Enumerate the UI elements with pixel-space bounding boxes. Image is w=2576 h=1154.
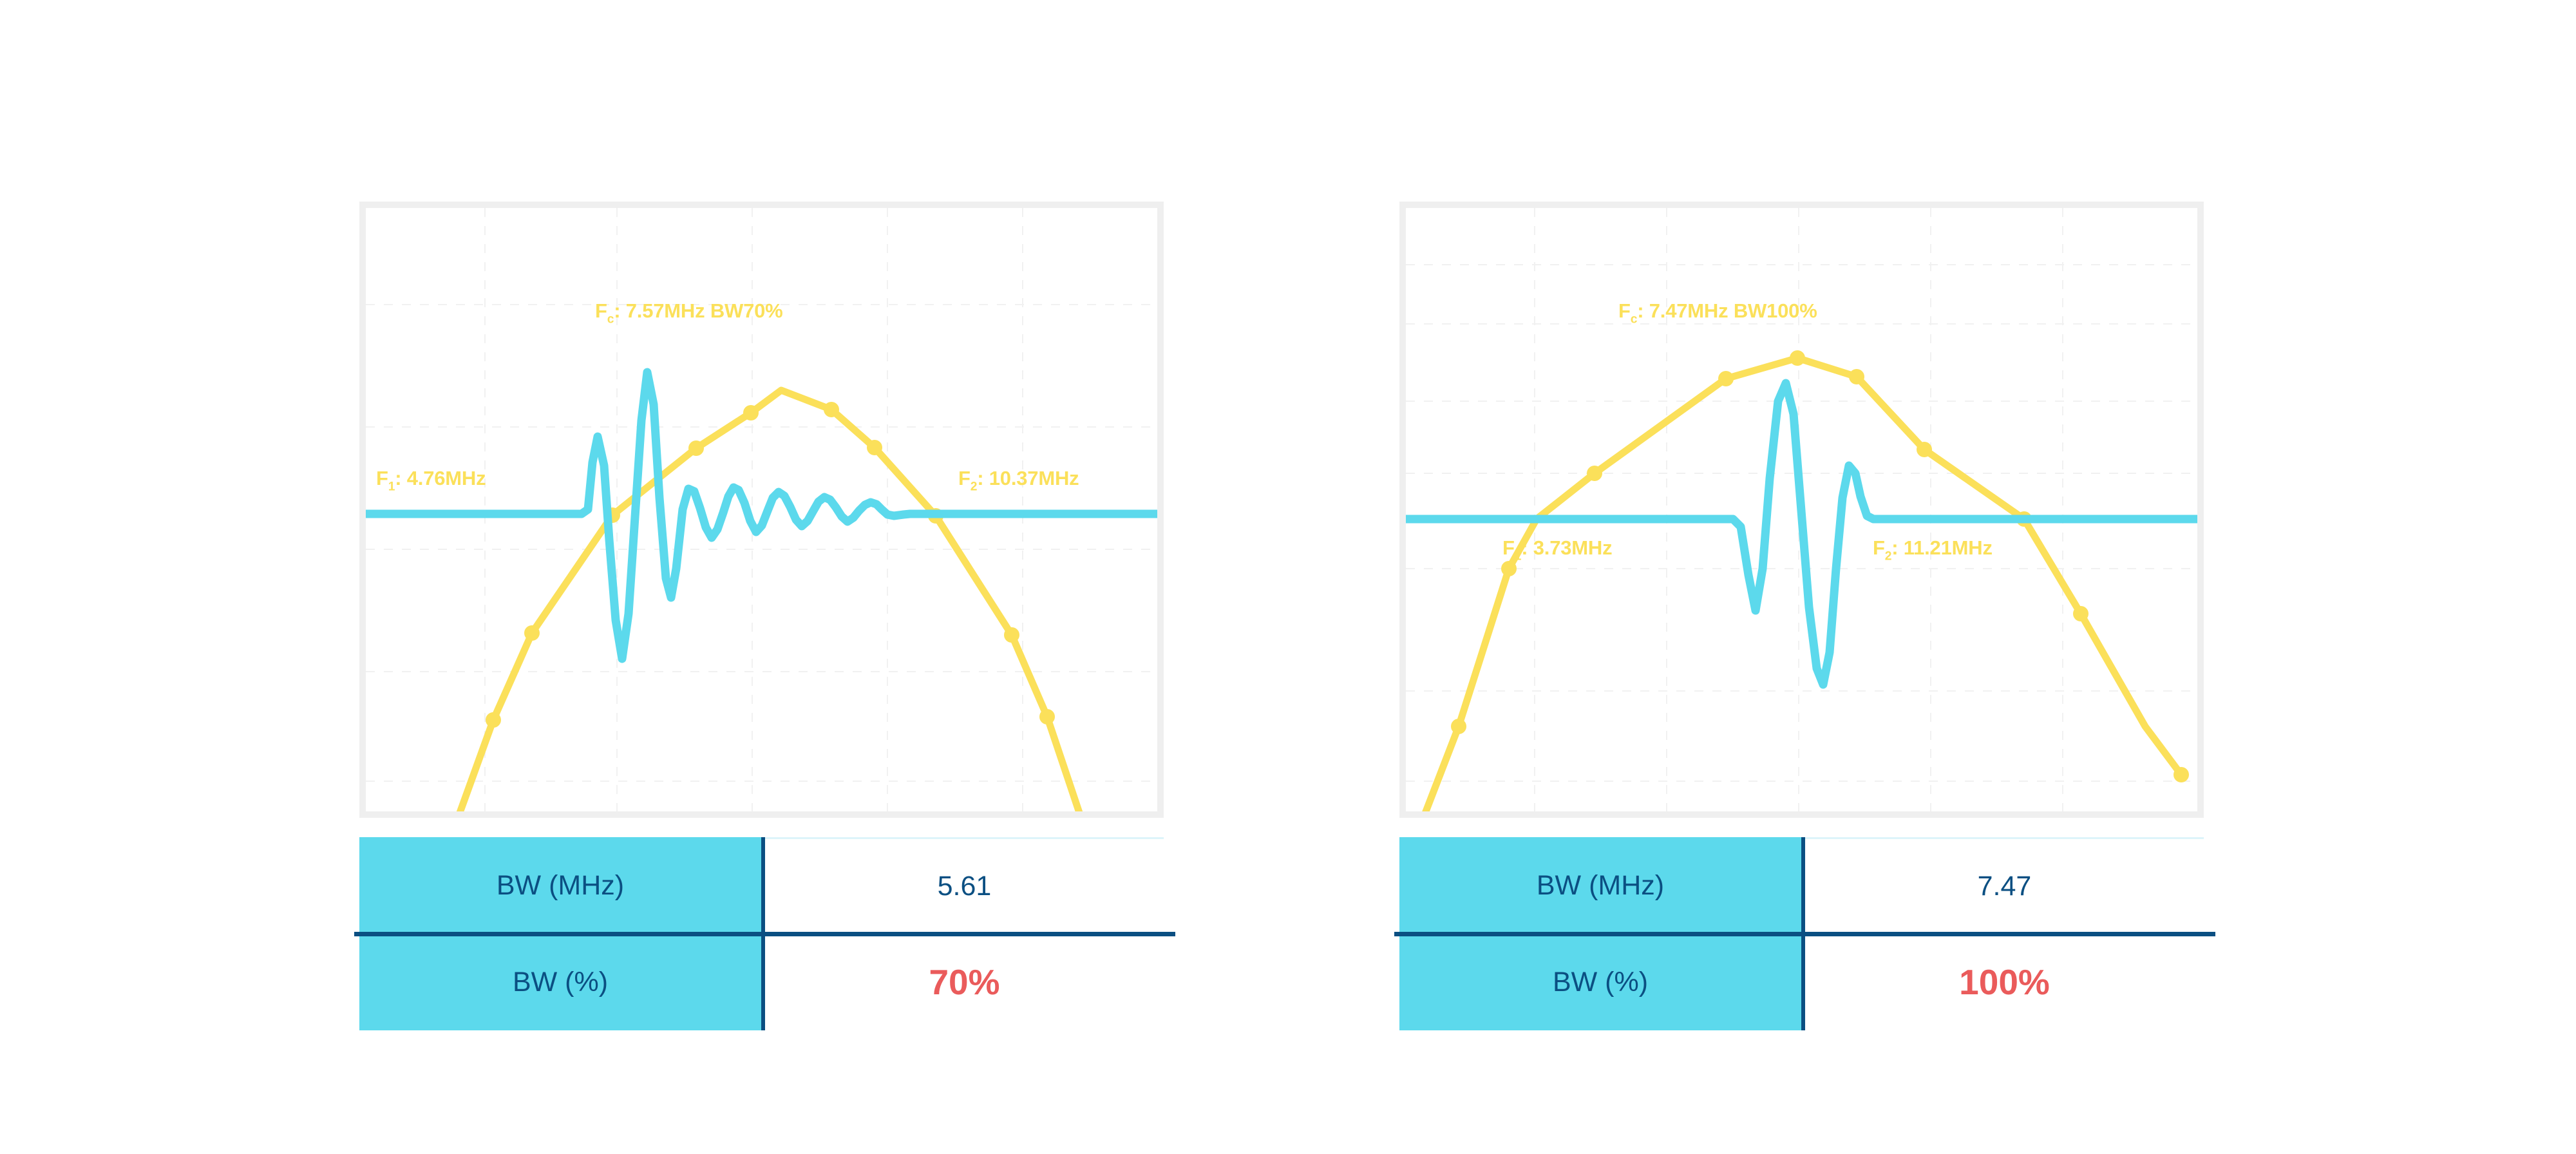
table-row: BW (MHz) 7.47: [1399, 837, 2204, 934]
annotation-f2-left: F2: 10.37MHz: [958, 468, 1079, 493]
bw-pct-label-left: BW (%): [359, 934, 765, 1030]
annotation-f2-text-right: : 11.21MHz: [1891, 536, 1993, 559]
bw-mhz-value-cell-left: 5.61: [765, 837, 1164, 934]
table-row: BW (%) 70%: [359, 934, 1164, 1030]
bw-pct-label-right: BW (%): [1399, 934, 1805, 1030]
annotation-center-prefix-left: F: [595, 299, 607, 322]
plot-area-left: [366, 208, 1157, 811]
chart-svg-left: [366, 208, 1157, 811]
bw-mhz-value-right: 7.47: [1978, 871, 2032, 902]
bw-table-right: BW (MHz) 7.47 BW (%) 100%: [1399, 837, 2204, 1030]
bw-mhz-label-left: BW (MHz): [359, 837, 765, 934]
annotation-f1-sub-left: 1: [388, 480, 395, 494]
bw-mhz-label-right: BW (MHz): [1399, 837, 1805, 934]
annotation-f2-sub-left: 2: [971, 480, 977, 494]
annotation-f2-prefix-left: F: [958, 467, 971, 489]
table-mid-rule-right: [1394, 932, 2215, 936]
annotation-center-text-right: : 7.47MHz BW100%: [1637, 299, 1817, 322]
table-row: BW (%) 100%: [1399, 934, 2204, 1030]
bw-pct-value-left: 70%: [929, 961, 999, 1003]
annotation-f2-prefix-right: F: [1873, 536, 1885, 559]
table-mid-rule-left: [354, 932, 1175, 936]
annotation-f2-sub-right: 2: [1885, 550, 1891, 563]
annotation-f1-sub-right: 1: [1515, 550, 1521, 563]
annotation-center-text-left: : 7.57MHz BW70%: [614, 299, 782, 322]
annotation-center-sub-right: c: [1631, 313, 1637, 326]
plot-area-right: [1406, 208, 2197, 811]
annotation-f2-right: F2: 11.21MHz: [1873, 538, 1993, 563]
chart-frame-left: Fc: 7.57MHz BW70% F1: 4.76MHz F2: 10.37M…: [359, 202, 1164, 818]
spectrum-curve-right: [1424, 358, 2181, 811]
annotation-center-sub-left: c: [607, 313, 614, 326]
bw-pct-value-cell-right: 100%: [1805, 934, 2204, 1030]
annotation-f1-text-right: : 3.73MHz: [1521, 536, 1612, 559]
bw-pct-value-right: 100%: [1959, 961, 2050, 1003]
annotation-f1-right: F1: 3.73MHz: [1502, 538, 1612, 563]
chart-svg-right: [1406, 208, 2197, 811]
bw-mhz-value-left: 5.61: [938, 871, 992, 902]
spectrum-markers-right: [1451, 350, 2189, 782]
spectrum-curve-left: [457, 390, 1081, 811]
annotation-center-left: Fc: 7.57MHz BW70%: [595, 301, 783, 326]
table-row: BW (MHz) 5.61: [359, 837, 1164, 934]
annotation-center-right: Fc: 7.47MHz BW100%: [1618, 301, 1817, 326]
bw-mhz-value-cell-right: 7.47: [1805, 837, 2204, 934]
annotation-f1-prefix-left: F: [376, 467, 388, 489]
annotation-f1-prefix-right: F: [1502, 536, 1515, 559]
annotation-center-prefix-right: F: [1618, 299, 1631, 322]
chart-frame-right: Fc: 7.47MHz BW100% F1: 3.73MHz F2: 11.21…: [1399, 202, 2204, 818]
annotation-f1-left: F1: 4.76MHz: [376, 468, 486, 493]
bw-table-left: BW (MHz) 5.61 BW (%) 70%: [359, 837, 1164, 1030]
bw-pct-value-cell-left: 70%: [765, 934, 1164, 1030]
annotation-f2-text-left: : 10.37MHz: [977, 467, 1079, 489]
annotation-f1-text-left: : 4.76MHz: [395, 467, 486, 489]
